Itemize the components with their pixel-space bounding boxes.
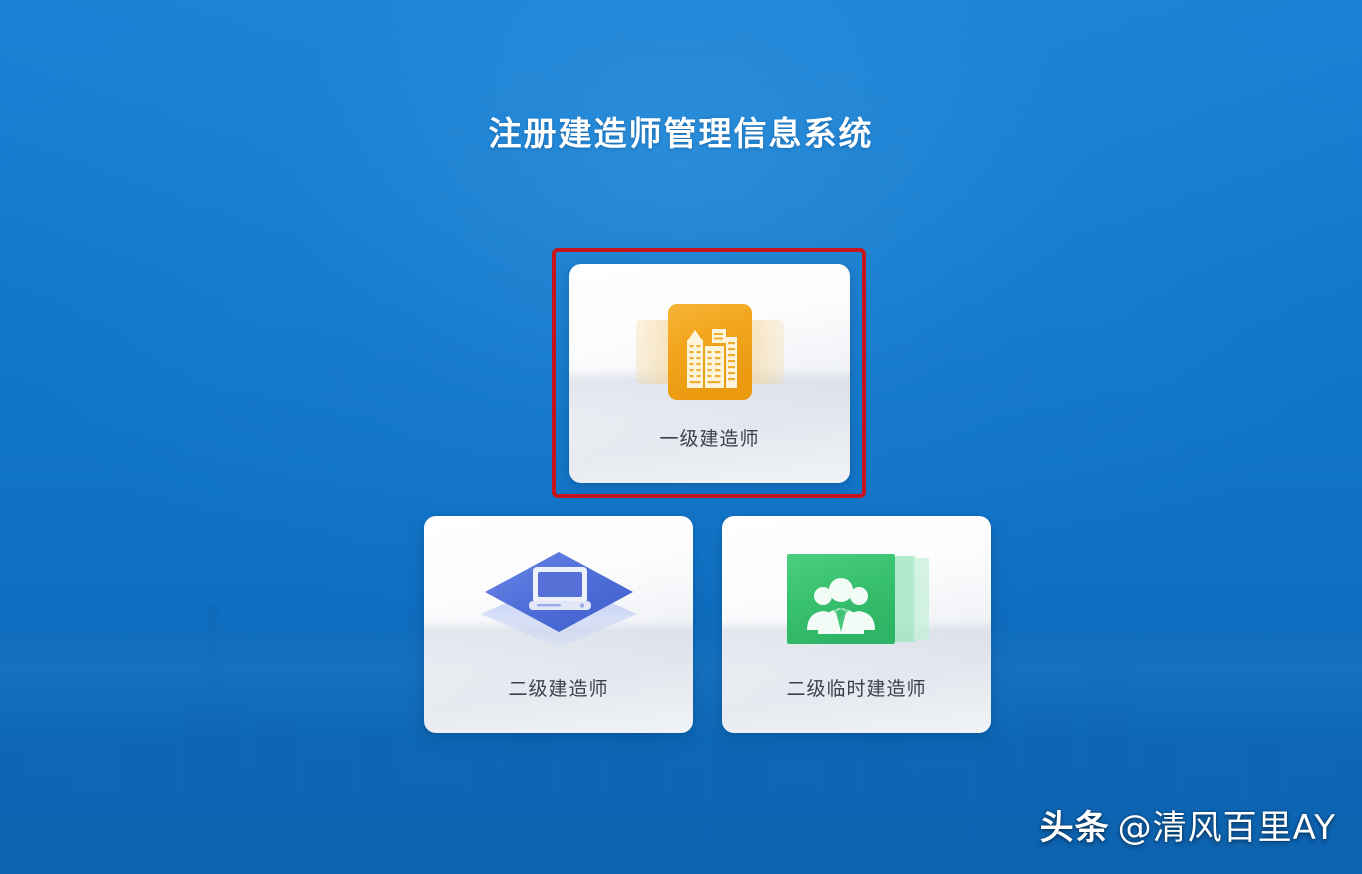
page-title: 注册建造师管理信息系统: [0, 112, 1362, 156]
card-erjian[interactable]: 二级建造师: [424, 516, 693, 733]
watermark-handle: @清风百里AY: [1118, 808, 1336, 848]
office-buildings-icon: [612, 296, 808, 408]
card-erjian-label: 二级建造师: [424, 674, 693, 701]
card-erjian-lin[interactable]: 二级临时建造师: [722, 516, 991, 733]
watermark-brand: 头条: [1040, 808, 1110, 848]
people-group-icon: [773, 546, 941, 656]
card-yijian-label: 一级建造师: [569, 424, 850, 451]
card-erjian-lin-label: 二级临时建造师: [722, 674, 991, 701]
app-background: 注册建造师管理信息系统: [0, 0, 1362, 874]
card-yijian[interactable]: 一级建造师: [569, 264, 850, 483]
watermark: 头条@清风百里AY: [1040, 808, 1336, 848]
computer-diamond-icon: [469, 544, 649, 656]
